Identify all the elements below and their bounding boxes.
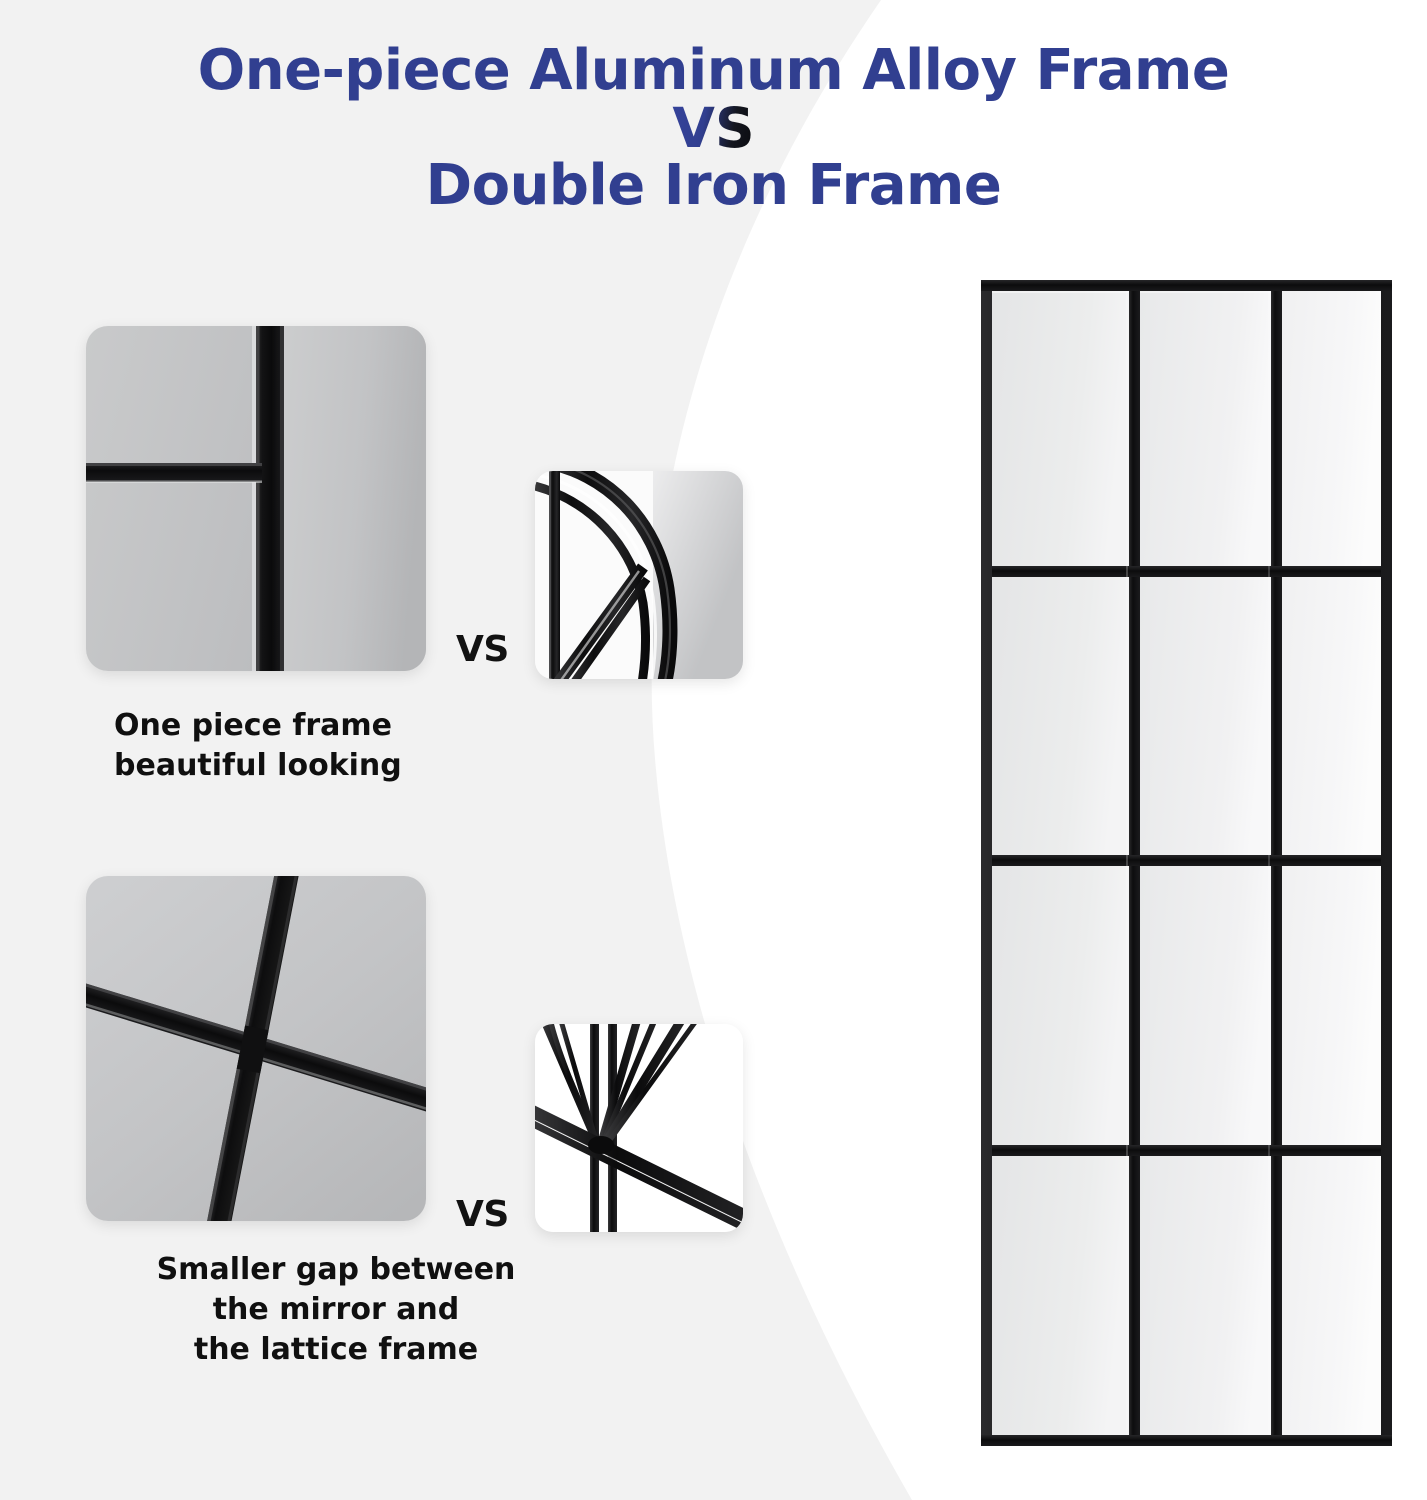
caption-row-2: Smaller gap between the mirror and the l… [76,1250,596,1370]
one-piece-aluminum-frame-joint-photo [86,326,426,671]
vs-label-row-2: VS [456,1194,509,1235]
headline-line-1: One-piece Aluminum Alloy Frame [0,42,1427,100]
windowpane-grid-mirror [981,280,1392,1446]
infographic-page: One-piece Aluminum Alloy Frame VS Double… [0,0,1427,1500]
headline-line-2: Double Iron Frame [0,157,1427,215]
iron-rods-tangled-joint-photo [535,1024,743,1232]
aluminum-lattice-cross-joint-photo [86,876,426,1221]
vs-label-row-1: VS [456,629,509,670]
headline-block: One-piece Aluminum Alloy Frame VS Double… [0,42,1427,216]
caption-row-1: One piece frame beautiful looking [114,706,534,786]
headline-vs-wrap: VS [0,100,1427,157]
headline-vs: VS [672,100,754,157]
double-iron-frame-arc-photo [535,471,743,679]
